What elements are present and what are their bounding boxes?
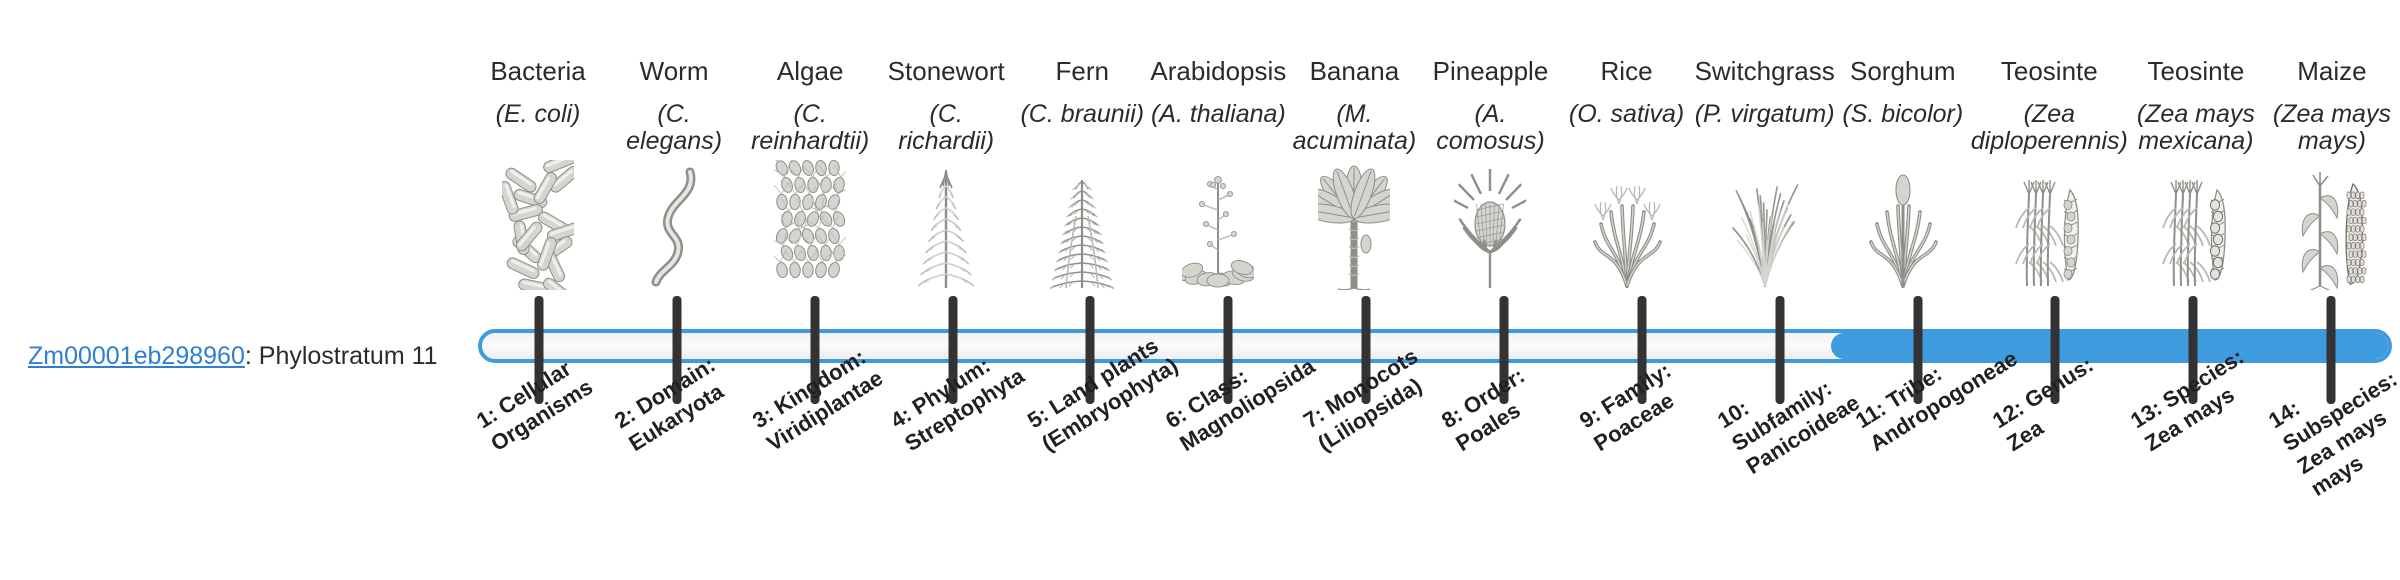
phylostratum-label-cell: 11: Tribe: Andropogoneae: [1849, 404, 1987, 580]
phylostratum-label-cell: 3: Kingdom: Viridiplantae: [746, 404, 884, 580]
organism-common-name: Fern: [1056, 58, 1109, 85]
organism-scientific-name: (E. coli): [470, 101, 606, 128]
organism-column: Sorghum(S. bicolor): [1835, 0, 1971, 310]
teosinte-mexicana-icon: [2128, 172, 2264, 290]
organism-scientific-name: (M. acuminata): [1286, 101, 1422, 155]
organism-column: Maize(Zea mays mays): [2264, 0, 2400, 310]
phylostratum-label-cell: 7: Monocots (Liliopsida): [1297, 404, 1435, 580]
algae-icon: [742, 172, 878, 290]
phylostratum-label-cell: 8: Order: Poales: [1435, 404, 1573, 580]
organism-column: Teosinte(Zea mays mexicana): [2128, 0, 2264, 310]
organism-scientific-name: (P. virgatum): [1695, 101, 1835, 128]
organism-column: Rice(O. sativa): [1559, 0, 1695, 310]
organism-scientific-name: (Zea diploperennis): [1971, 101, 2128, 155]
label-separator: :: [245, 342, 259, 370]
organism-scientific-name: (Zea mays mays): [2264, 101, 2400, 155]
organism-column: Algae(C. reinhardtii): [742, 0, 878, 310]
organism-column: Switchgrass(P. virgatum): [1695, 0, 1835, 310]
organism-common-name: Bacteria: [490, 58, 585, 85]
organism-scientific-name: (C. elegans): [606, 101, 742, 155]
organism-column: Worm(C. elegans): [606, 0, 742, 310]
organism-common-name: Teosinte: [2147, 58, 2244, 85]
phylostratum-label-cell: 13: Species: Zea mays: [2124, 404, 2262, 580]
phylostratum-figure: Bacteria(E. coli)Worm(C. elegans)Algae(C…: [0, 0, 2400, 580]
organism-scientific-name: (C. reinhardtii): [742, 101, 878, 155]
organism-common-name: Rice: [1601, 58, 1653, 85]
fern-icon: [1014, 172, 1150, 290]
phylostratum-label-cell: 12: Genus: Zea: [1986, 404, 2124, 580]
organism-column: Bacteria(E. coli): [470, 0, 606, 310]
organism-scientific-name: (A. comosus): [1422, 101, 1558, 155]
pineapple-icon: [1422, 172, 1558, 290]
organism-common-name: Algae: [777, 58, 844, 85]
stonewort-icon: [878, 172, 1014, 290]
organism-column: Teosinte(Zea diploperennis): [1971, 0, 2128, 310]
phylostratum-labels: 1: Cellular Organisms2: Domain: Eukaryot…: [470, 404, 2400, 580]
banana-icon: [1286, 172, 1422, 290]
phylostratum-label-cell: 5: Land plants (Embryophyta): [1021, 404, 1159, 580]
phylostratum-label-cell: 1: Cellular Organisms: [470, 404, 608, 580]
organism-column: Pineapple(A. comosus): [1422, 0, 1558, 310]
organism-scientific-name: (A. thaliana): [1150, 101, 1286, 128]
organism-column: Arabidopsis(A. thaliana): [1150, 0, 1286, 310]
worm-icon: [606, 172, 742, 290]
phylostratum-label-cell: 2: Domain: Eukaryota: [608, 404, 746, 580]
phylostratum-label-cell: 4: Phylum: Streptophyta: [884, 404, 1022, 580]
organism-column: Fern(C. braunii): [1014, 0, 1150, 310]
organism-scientific-name: (C. richardii): [878, 101, 1014, 155]
gene-row-label: Zm00001eb298960: Phylostratum 11: [28, 342, 438, 371]
phylostratum-label-cell: 14: Subspecies: Zea mays mays: [2262, 404, 2400, 580]
gene-id-link[interactable]: Zm00001eb298960: [28, 342, 245, 370]
arabidopsis-icon: [1150, 172, 1286, 290]
organism-scientific-name: (Zea mays mexicana): [2128, 101, 2264, 155]
organism-column: Banana(M. acuminata): [1286, 0, 1422, 310]
phylostratum-value: Phylostratum 11: [259, 342, 438, 370]
organism-common-name: Switchgrass: [1695, 58, 1835, 85]
organism-common-name: Maize: [2297, 58, 2366, 85]
phylostratum-label-cell: 10: Subfamily: Panicoideae: [1711, 404, 1849, 580]
teosinte-diplo-icon: [1971, 172, 2128, 290]
switchgrass-icon: [1695, 172, 1835, 290]
maize-icon: [2264, 172, 2400, 290]
rice-icon: [1559, 172, 1695, 290]
organism-scientific-name: (S. bicolor): [1835, 101, 1971, 128]
organism-scientific-name: (C. braunii): [1014, 101, 1150, 128]
organism-common-name: Banana: [1310, 58, 1400, 85]
organism-common-name: Stonewort: [888, 58, 1005, 85]
bacteria-icon: [470, 172, 606, 290]
organism-common-name: Arabidopsis: [1150, 58, 1286, 85]
organism-common-name: Teosinte: [2001, 58, 2098, 85]
organism-column: Stonewort(C. richardii): [878, 0, 1014, 310]
organism-columns: Bacteria(E. coli)Worm(C. elegans)Algae(C…: [470, 0, 2400, 310]
organism-common-name: Pineapple: [1433, 58, 1549, 85]
organism-common-name: Worm: [640, 58, 709, 85]
phylostratum-label-cell: 6: Class: Magnoliopsida: [1159, 404, 1297, 580]
sorghum-icon: [1835, 172, 1971, 290]
organism-scientific-name: (O. sativa): [1559, 101, 1695, 128]
organism-common-name: Sorghum: [1850, 58, 1956, 85]
phylostratum-label-cell: 9: Family: Poaceae: [1573, 404, 1711, 580]
